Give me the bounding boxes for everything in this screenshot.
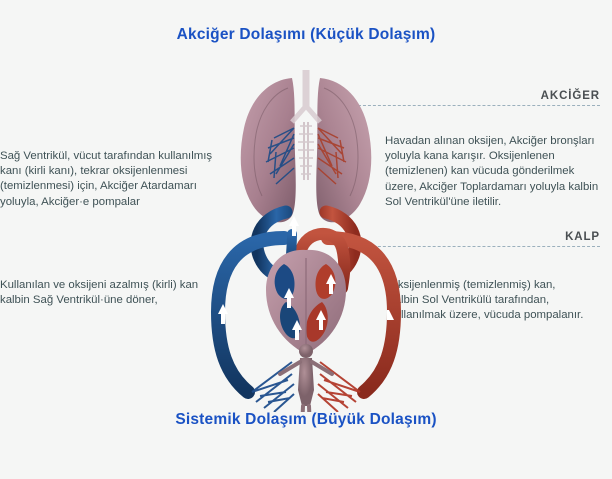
page-title-systemic-circulation: Sistemik Dolaşım (Büyük Dolaşım)	[0, 410, 612, 430]
circulatory-system-illustration	[196, 62, 416, 412]
heart-cross-section	[266, 250, 346, 354]
annotation-right-ventricle-to-lungs: Sağ Ventrikül, vücut tarafından kullanıl…	[0, 149, 220, 210]
callout-label-lung: AKCİĞER	[541, 90, 600, 102]
bronchi	[292, 70, 320, 180]
callout-label-heart: KALP	[565, 231, 600, 243]
annotation-oxygen-uptake: Havadan alınan oksijen, Akciğer bronşlar…	[385, 134, 612, 210]
page-title-pulmonary-circulation: Akciğer Dolaşımı (Küçük Dolaşım)	[0, 25, 612, 45]
annotation-oxygenated-to-body: Oksijenlenmiş (temizlenmiş) kan, kalbin …	[389, 278, 612, 324]
annotation-deoxygenated-return: Kullanılan ve oksijeni azalmış (kirli) k…	[0, 278, 220, 308]
diagram-canvas: Akciğer Dolaşımı (Küçük Dolaşım) Sistemi…	[0, 0, 612, 479]
